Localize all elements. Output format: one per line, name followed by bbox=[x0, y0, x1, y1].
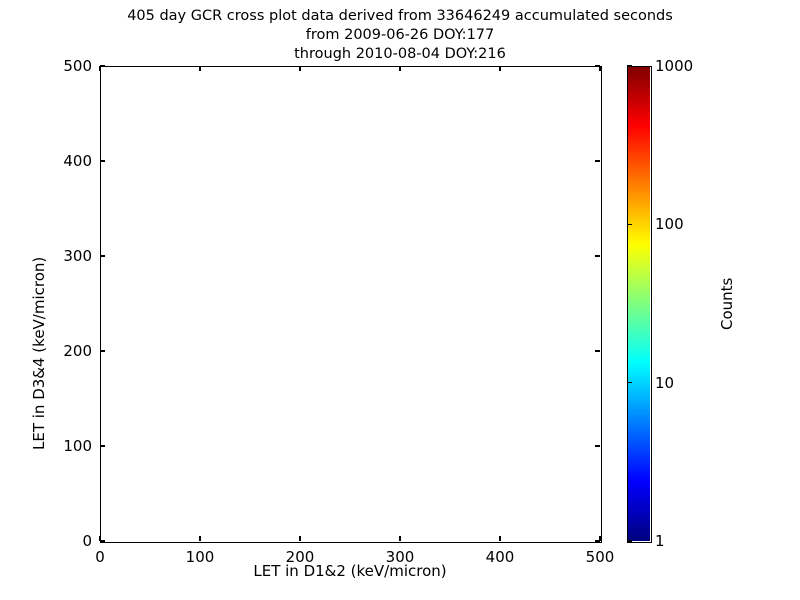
y-tick-500 bbox=[100, 65, 105, 66]
y-tick-right-500 bbox=[595, 65, 600, 66]
colorbar-tick-1000 bbox=[627, 65, 632, 66]
x-tick-top-0 bbox=[99, 66, 100, 71]
y-tick-right-0 bbox=[595, 540, 600, 541]
y-tick-400 bbox=[100, 160, 105, 161]
colorbar-ticklabel-1: 1 bbox=[655, 532, 665, 550]
y-tick-right-100 bbox=[595, 445, 600, 446]
colorbar-ticklabel-100: 100 bbox=[655, 215, 684, 233]
y-ticklabel-500: 500 bbox=[42, 57, 92, 75]
x-tick-300 bbox=[399, 536, 400, 541]
x-tick-200 bbox=[299, 536, 300, 541]
colorbar-tick-1 bbox=[627, 540, 632, 541]
y-tick-200 bbox=[100, 350, 105, 351]
colorbar-frame bbox=[627, 66, 652, 543]
x-axis-label: LET in D1&2 (keV/micron) bbox=[100, 562, 600, 580]
y-tick-0 bbox=[100, 540, 105, 541]
y-axis-label: LET in D3&4 (keV/micron) bbox=[30, 257, 48, 450]
title-line-2: from 2009-06-26 DOY:177 bbox=[0, 26, 800, 45]
y-tick-right-400 bbox=[595, 160, 600, 161]
x-tick-400 bbox=[499, 536, 500, 541]
y-ticklabel-200: 200 bbox=[42, 342, 92, 360]
colorbar-tick-100 bbox=[627, 224, 632, 225]
y-tick-right-300 bbox=[595, 255, 600, 256]
y-tick-right-200 bbox=[595, 350, 600, 351]
plot-title: 405 day GCR cross plot data derived from… bbox=[0, 7, 800, 64]
title-line-1: 405 day GCR cross plot data derived from… bbox=[0, 7, 800, 26]
colorbar-label: Counts bbox=[718, 278, 736, 330]
colorbar-ticklabel-10: 10 bbox=[655, 374, 674, 392]
x-tick-top-400 bbox=[499, 66, 500, 71]
x-tick-top-100 bbox=[199, 66, 200, 71]
x-tick-top-200 bbox=[299, 66, 300, 71]
y-ticklabel-100: 100 bbox=[42, 437, 92, 455]
figure-canvas: 405 day GCR cross plot data derived from… bbox=[0, 0, 800, 600]
y-tick-300 bbox=[100, 255, 105, 256]
y-ticklabel-0: 0 bbox=[42, 532, 92, 550]
colorbar-tick-10 bbox=[627, 382, 632, 383]
x-tick-top-500 bbox=[599, 66, 600, 71]
y-tick-100 bbox=[100, 445, 105, 446]
y-ticklabel-300: 300 bbox=[42, 247, 92, 265]
axes-frame bbox=[100, 66, 602, 543]
x-tick-100 bbox=[199, 536, 200, 541]
y-ticklabel-400: 400 bbox=[42, 152, 92, 170]
x-tick-top-300 bbox=[399, 66, 400, 71]
colorbar-ticklabel-1000: 1000 bbox=[655, 57, 693, 75]
